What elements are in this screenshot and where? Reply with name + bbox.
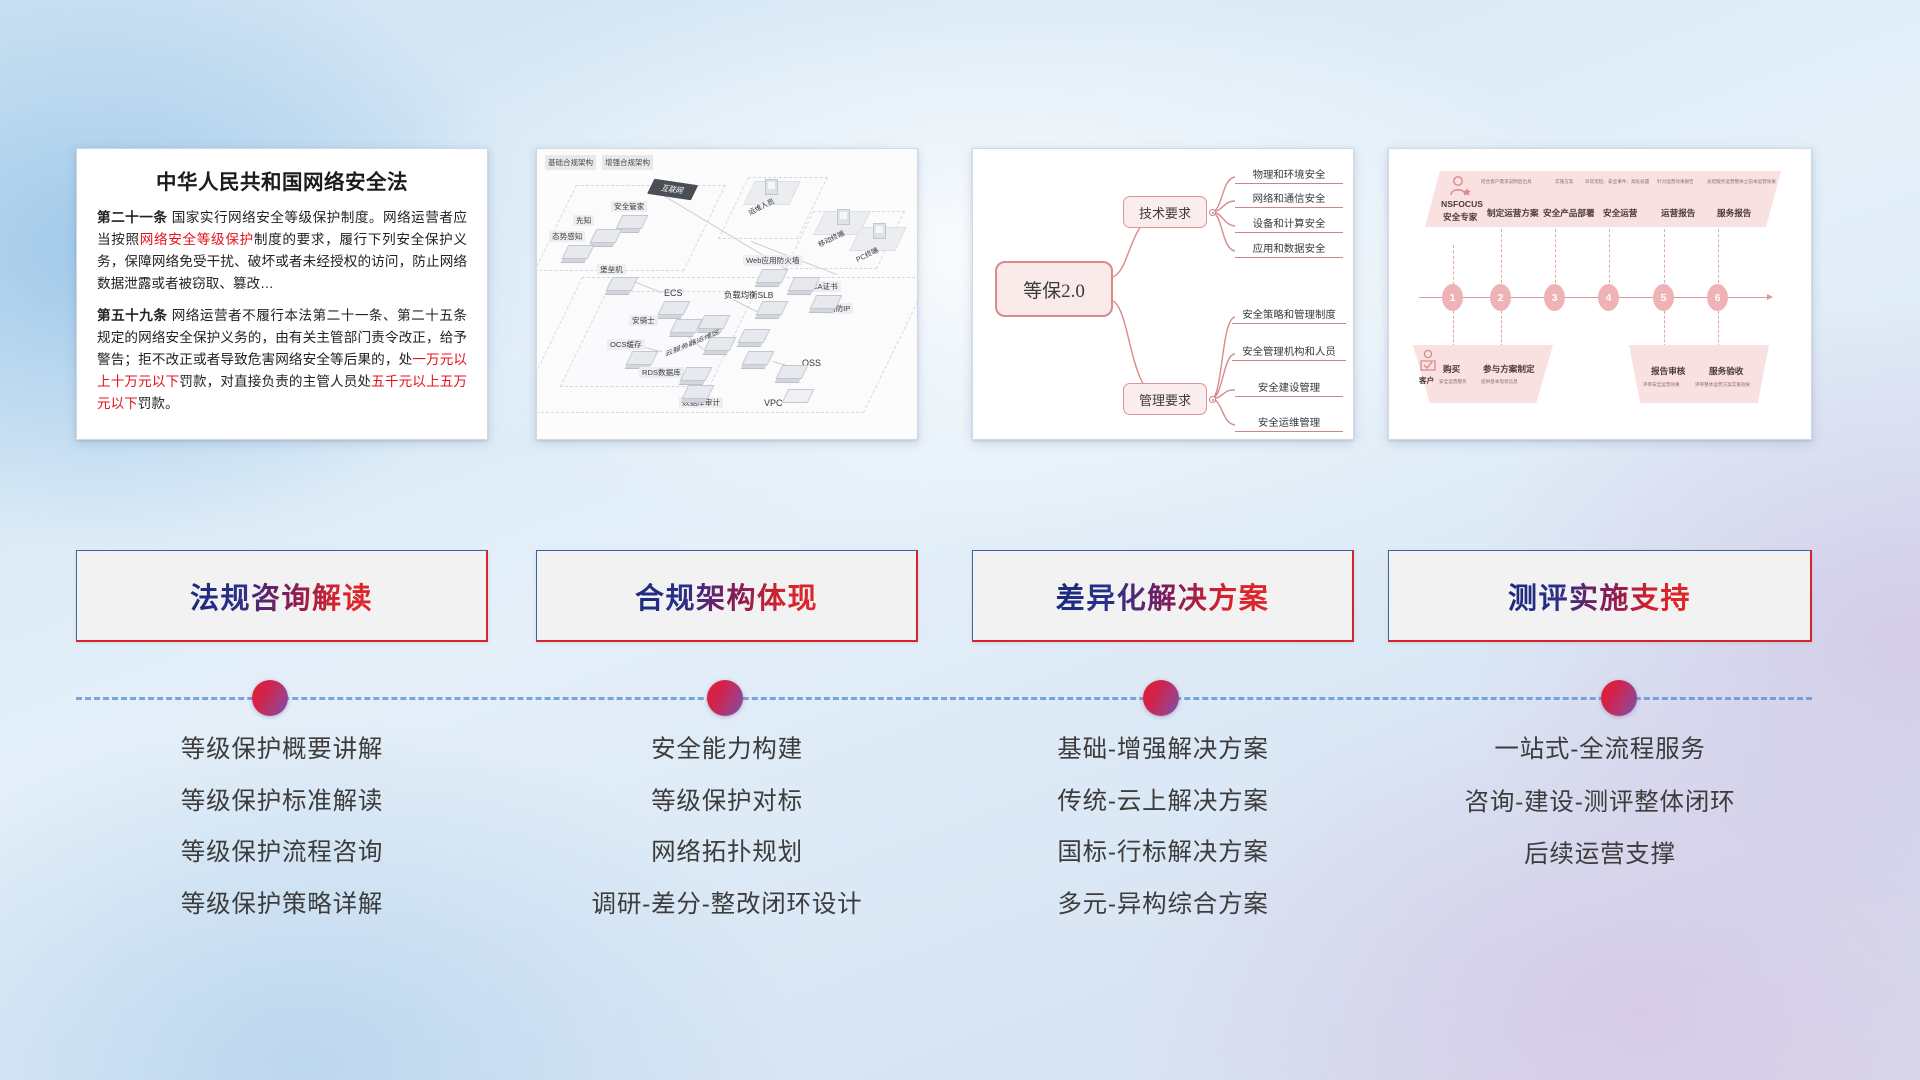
connector-step-6-top	[1718, 229, 1719, 283]
card-service-process[interactable]: NSFOCUS 安全专家 结合客户需求说明后出具 制定运营方案 实施方案 安全产…	[1388, 148, 1812, 440]
headline-label-4: 测评实施支持	[1508, 575, 1691, 617]
mindmap-collapse-dot-management[interactable]	[1209, 396, 1216, 403]
arch-node-vpc: VPC	[761, 397, 786, 410]
customer-role-label: 客户	[1419, 375, 1434, 386]
bottom-step-3-sub: 评审安全运营效果	[1643, 382, 1680, 388]
connector-step-5-bottom	[1664, 311, 1665, 347]
architecture-diagram: 基础合规架构 增强合规架构 互联网 安全管家 先知 态势感知	[537, 149, 917, 439]
article-59-label: 第五十九条	[97, 308, 167, 323]
timeline-dot-2[interactable]	[707, 680, 743, 716]
timeline-dot-4[interactable]	[1601, 680, 1637, 716]
mindmap-branch-management: 管理要求	[1123, 383, 1207, 415]
top-step-1-sub: 结合客户需求说明后出具	[1481, 179, 1532, 185]
expert-role-line2: 安全专家	[1443, 211, 1477, 223]
arch-node-ocs-cache: OCS缓存	[607, 339, 645, 350]
article-59-text-after: 罚款。	[138, 396, 179, 411]
headline-box-differentiated-solution[interactable]: 差异化解决方案	[972, 550, 1354, 642]
bullet-columns: 等级保护概要讲解 等级保护标准解读 等级保护流程咨询 等级保护策略详解 安全能力…	[0, 738, 1920, 968]
mindmap-branch-technical: 技术要求	[1123, 196, 1207, 228]
arch-node-ecs: ECS	[661, 287, 686, 300]
headline-label-3: 差异化解决方案	[1056, 575, 1270, 617]
arch-node-slb: 负载均衡SLB	[721, 289, 776, 302]
list-item: 多元-异构综合方案	[972, 893, 1354, 918]
arch-node-situational-awareness: 态势感知	[549, 231, 585, 242]
headline-row: 法规咨询解读 合规架构体现 差异化解决方案 测评实施支持	[0, 550, 1920, 642]
bottom-step-4-title: 服务验收	[1709, 365, 1743, 377]
top-step-1-title: 制定运营方案	[1487, 207, 1539, 219]
law-article-59: 第五十九条 网络运营者不履行本法第二十一条、第二十五条规定的网络安全保护义务的，…	[97, 305, 467, 416]
connector-step-4-top	[1609, 229, 1610, 283]
process-bottom-banner-right	[1629, 345, 1769, 403]
connector-step-6-bottom	[1718, 311, 1719, 347]
bullet-column-2: 安全能力构建 等级保护对标 网络拓扑规划 调研-差分-整改闭环设计	[536, 738, 918, 944]
list-item: 等级保护概要讲解	[76, 738, 488, 763]
bottom-step-2-sub: 提供基本现状信息	[1481, 379, 1518, 385]
list-item: 调研-差分-整改闭环设计	[536, 893, 918, 918]
headline-box-evaluation-support[interactable]: 测评实施支持	[1388, 550, 1812, 642]
connector-step-3-top	[1555, 229, 1556, 283]
article-59-text-middle: 罚款，对直接负责的主管人员处	[179, 374, 371, 389]
customer-icon	[1419, 349, 1439, 373]
law-document: 中华人民共和国网络安全法 第二十一条 国家实行网络安全等级保护制度。网络运营者应…	[77, 149, 487, 434]
process-axis-arrow-icon	[1767, 294, 1773, 300]
headline-label-2: 合规架构体现	[635, 575, 818, 617]
expert-icon	[1447, 175, 1473, 197]
arch-node-security-butler: 安全管家	[611, 201, 647, 212]
connector-step-2-bottom	[1501, 311, 1502, 347]
arch-node-xianzhi: 先知	[573, 215, 594, 226]
list-item: 等级保护标准解读	[76, 790, 488, 815]
top-step-2-title: 安全产品部署	[1543, 207, 1595, 219]
law-title: 中华人民共和国网络安全法	[97, 165, 467, 195]
mindmap-leaf-physical: 物理和环境安全	[1235, 166, 1343, 184]
list-item: 国标-行标解决方案	[972, 841, 1354, 866]
mindmap-leaf-operation: 安全运维管理	[1235, 414, 1343, 432]
bottom-step-2-title: 参与方案制定	[1483, 363, 1535, 375]
list-item: 一站式-全流程服务	[1388, 738, 1812, 763]
arch-node-bastion: 堡垒机	[597, 264, 626, 275]
article-21-label: 第二十一条	[97, 210, 167, 225]
top-step-3-title: 安全运营	[1603, 207, 1637, 219]
mindmap-leaf-app-data: 应用和数据安全	[1235, 240, 1343, 258]
mindmap-leaf-device: 设备和计算安全	[1235, 215, 1343, 233]
process-step-5[interactable]: 5	[1653, 284, 1674, 311]
law-article-21: 第二十一条 国家实行网络安全等级保护制度。网络运营者应当按照网络安全等级保护制度…	[97, 207, 467, 296]
mindmap-leaf-network: 网络和通信安全	[1235, 190, 1343, 208]
mindmap-collapse-dot-technical[interactable]	[1209, 209, 1216, 216]
bullet-column-1: 等级保护概要讲解 等级保护标准解读 等级保护流程咨询 等级保护策略详解	[76, 738, 488, 944]
bullet-column-4: 一站式-全流程服务 咨询-建设-测评整体闭环 后续运营支撑	[1388, 738, 1812, 896]
arch-tab-basic[interactable]: 基础合规架构	[545, 155, 596, 170]
top-step-3-sub: 日常巡检、安全事件、高危处置	[1585, 179, 1649, 185]
bottom-step-1-title: 购买	[1443, 363, 1460, 375]
article-21-highlight: 网络安全等级保护	[140, 232, 254, 247]
timeline-dot-1[interactable]	[252, 680, 288, 716]
list-item: 基础-增强解决方案	[972, 738, 1354, 763]
process-step-2[interactable]: 2	[1490, 284, 1511, 311]
list-item: 传统-云上解决方案	[972, 790, 1354, 815]
process-step-1[interactable]: 1	[1442, 284, 1463, 311]
card-mindmap-dengbao[interactable]: 等保2.0 技术要求 物理和环境安全 网络和通信安全 设备和计算安全 应用和数据…	[972, 148, 1354, 440]
headline-box-regulation-consulting[interactable]: 法规咨询解读	[76, 550, 488, 642]
arch-node-rds: RDS数据库	[639, 367, 684, 378]
process-diagram: NSFOCUS 安全专家 结合客户需求说明后出具 制定运营方案 实施方案 安全产…	[1389, 149, 1811, 439]
top-step-5-sub: 总结服务运营整体之前本运营效果	[1707, 179, 1776, 185]
timeline-dashed-line	[76, 697, 1812, 700]
mindmap-leaf-org-people: 安全管理机构和人员	[1232, 343, 1346, 361]
list-item: 后续运营支撑	[1388, 843, 1812, 868]
arch-icon-mobile	[837, 209, 850, 225]
mindmap-leaf-policy: 安全策略和管理制度	[1232, 306, 1346, 324]
connector-step-1-top	[1453, 245, 1454, 285]
list-item: 网络拓扑规划	[536, 841, 918, 866]
architecture-tabs: 基础合规架构 增强合规架构	[545, 155, 653, 170]
list-item: 等级保护流程咨询	[76, 841, 488, 866]
arch-node-anqishi: 安骑士	[629, 315, 658, 326]
list-item: 安全能力构建	[536, 738, 918, 763]
connector-step-5-top	[1664, 229, 1665, 283]
bottom-step-1-sub: 安全运营服务	[1439, 379, 1467, 385]
card-cybersecurity-law[interactable]: 中华人民共和国网络安全法 第二十一条 国家实行网络安全等级保护制度。网络运营者应…	[76, 148, 488, 440]
list-item: 咨询-建设-测评整体闭环	[1388, 791, 1812, 816]
timeline	[0, 668, 1920, 732]
list-item: 等级保护策略详解	[76, 893, 488, 918]
process-step-6[interactable]: 6	[1707, 284, 1728, 311]
headline-label-1: 法规咨询解读	[190, 575, 373, 617]
arch-icon-ops-person	[765, 179, 778, 195]
top-step-2-sub: 实施方案	[1555, 179, 1573, 185]
connector-step-2-top	[1501, 229, 1502, 283]
card-cloud-architecture[interactable]: 基础合规架构 增强合规架构 互联网 安全管家 先知 态势感知	[536, 148, 918, 440]
top-step-4-title: 运营报告	[1661, 207, 1695, 219]
expert-role-line1: NSFOCUS	[1441, 199, 1483, 209]
process-step-3[interactable]: 3	[1544, 284, 1565, 311]
list-item: 等级保护对标	[536, 790, 918, 815]
timeline-dot-3[interactable]	[1143, 680, 1179, 716]
preview-cards-row: 中华人民共和国网络安全法 第二十一条 国家实行网络安全等级保护制度。网络运营者应…	[0, 148, 1920, 448]
mindmap: 等保2.0 技术要求 物理和环境安全 网络和通信安全 设备和计算安全 应用和数据…	[973, 149, 1353, 439]
bottom-step-4-sub: 评审整体运营方案实施效果	[1695, 382, 1750, 388]
process-step-4[interactable]: 4	[1598, 284, 1619, 311]
arch-icon-pc	[873, 223, 886, 239]
mindmap-leaf-construction: 安全建设管理	[1235, 379, 1343, 397]
connector-step-1-bottom	[1453, 311, 1454, 347]
bullet-column-3: 基础-增强解决方案 传统-云上解决方案 国标-行标解决方案 多元-异构综合方案	[972, 738, 1354, 944]
arch-node-waf: Web应用防火墙	[743, 255, 802, 266]
bottom-step-3-title: 报告审核	[1651, 365, 1685, 377]
headline-box-compliance-architecture[interactable]: 合规架构体现	[536, 550, 918, 642]
top-step-5-title: 服务报告	[1717, 207, 1751, 219]
arch-tab-enhanced[interactable]: 增强合规架构	[602, 155, 653, 170]
top-step-4-sub: 针对运营效果报告	[1657, 179, 1694, 185]
